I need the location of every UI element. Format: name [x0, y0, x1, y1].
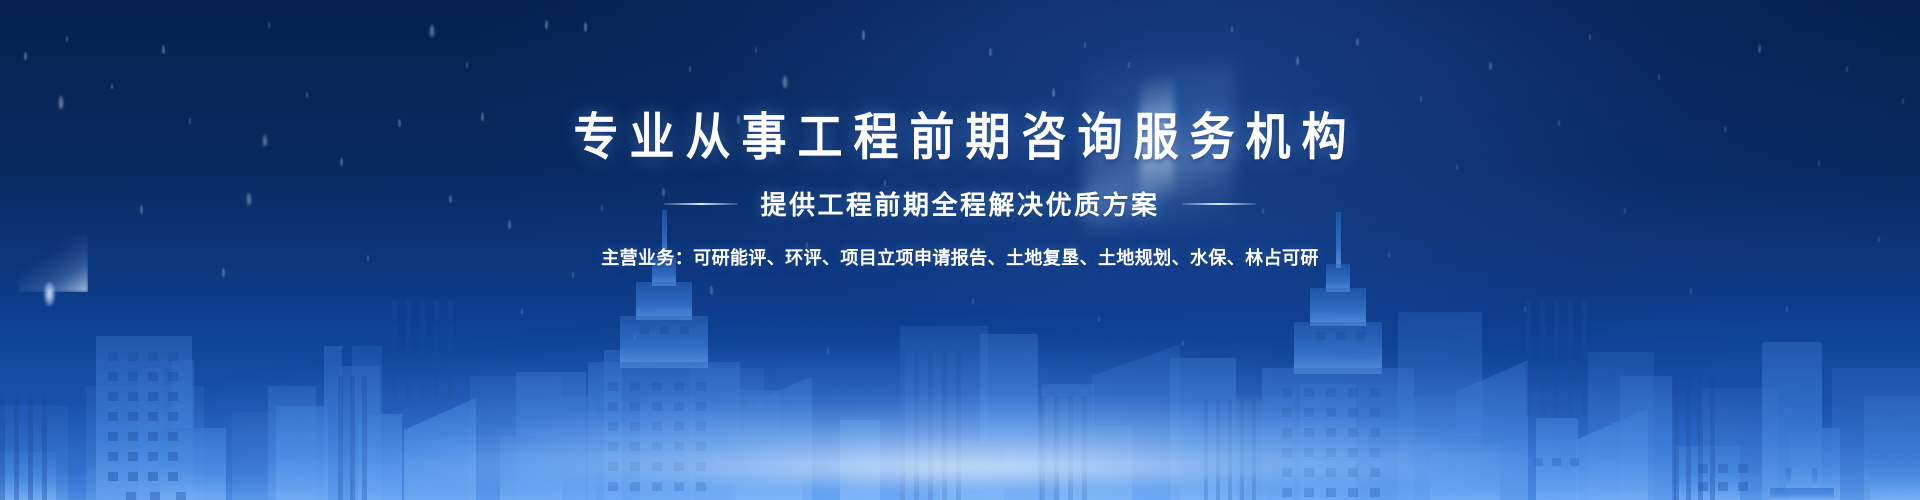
light-particle: [66, 36, 68, 42]
light-particle: [989, 48, 992, 56]
light-particle: [1231, 26, 1233, 32]
light-particle: [1128, 62, 1130, 68]
light-particle: [862, 30, 865, 40]
decorative-rule-left: [664, 203, 738, 205]
light-particle: [59, 96, 63, 109]
light-particle: [268, 22, 270, 28]
light-particle: [1758, 44, 1761, 53]
light-particle: [24, 52, 27, 60]
light-particle: [1558, 120, 1560, 126]
light-particle: [1489, 62, 1492, 70]
banner-subtitle: 提供工程前期全程解决优质方案: [760, 185, 1159, 222]
light-particle: [398, 119, 401, 127]
hero-banner: 专业从事工程前期咨询服务机构 提供工程前期全程解决优质方案 主营业务：可研能评、…: [0, 0, 1920, 500]
banner-headline: 专业从事工程前期咨询服务机构: [562, 112, 1357, 162]
light-particle: [263, 135, 267, 146]
light-particle: [1420, 96, 1422, 102]
banner-subtitle-row: 提供工程前期全程解决优质方案: [664, 185, 1255, 222]
light-particle: [1846, 66, 1848, 72]
light-particle: [111, 84, 113, 89]
light-particle: [1052, 88, 1055, 97]
light-particle: [783, 76, 787, 88]
light-particle: [162, 45, 165, 54]
light-particle: [1456, 164, 1458, 170]
light-particle: [689, 66, 691, 72]
light-particle: [1589, 34, 1591, 40]
light-particle: [1296, 56, 1299, 65]
light-particle: [1084, 42, 1086, 48]
light-particle: [189, 118, 191, 124]
light-particle: [481, 112, 484, 121]
decorative-rule-right: [1182, 203, 1256, 205]
light-particle: [1724, 126, 1726, 132]
light-particle: [1818, 160, 1820, 166]
light-particle: [584, 22, 587, 32]
light-particle: [306, 92, 308, 98]
light-particle: [1658, 74, 1660, 80]
light-particle: [430, 25, 434, 37]
light-particle: [1902, 98, 1904, 104]
light-particle: [466, 62, 468, 68]
light-particle: [1356, 38, 1359, 46]
banner-services-tagline: 主营业务：可研能评、环评、项目立项申请报告、土地复垦、土地规划、水保、林占可研: [601, 244, 1319, 270]
light-particle: [340, 158, 343, 166]
light-particle: [545, 20, 548, 29]
light-particle: [755, 47, 757, 53]
